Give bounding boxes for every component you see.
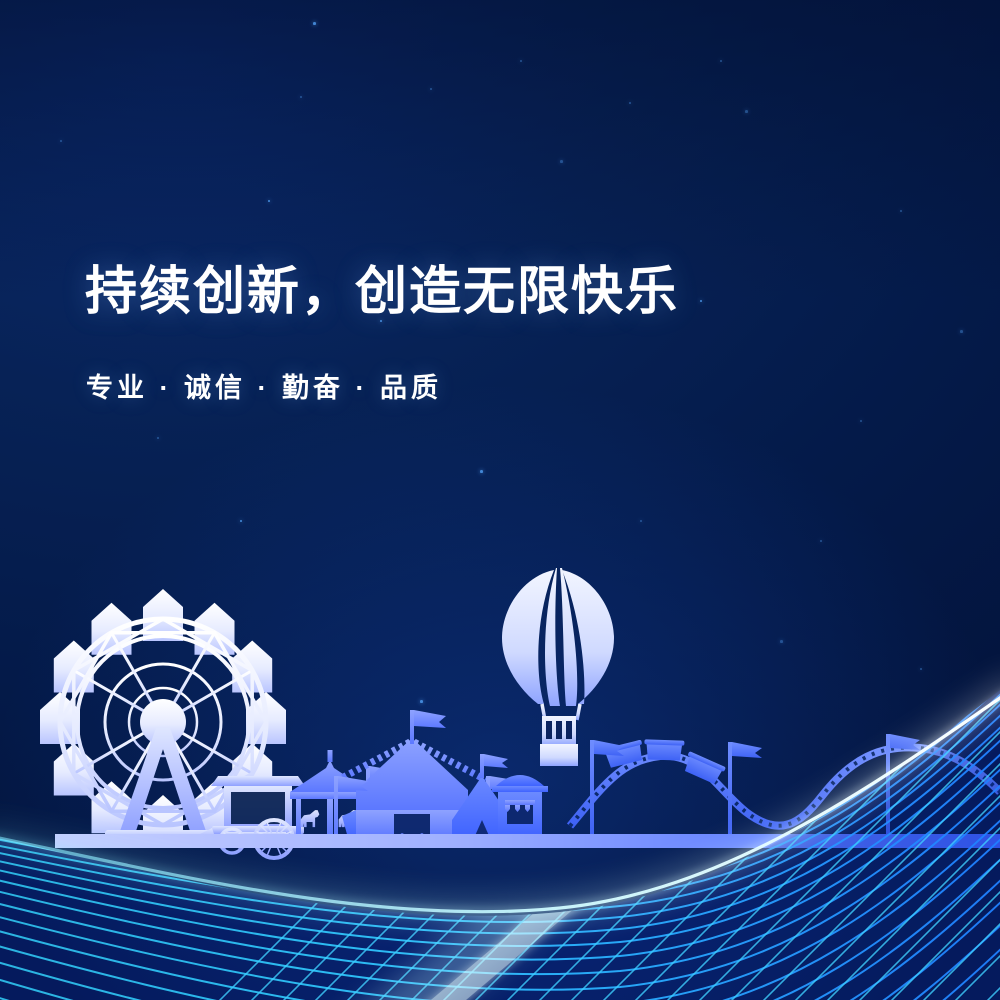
glowing-wave-mesh: [0, 0, 1000, 1000]
poster-canvas: 持续创新，创造无限快乐 专业 · 诚信 · 勤奋 · 品质: [0, 0, 1000, 1000]
